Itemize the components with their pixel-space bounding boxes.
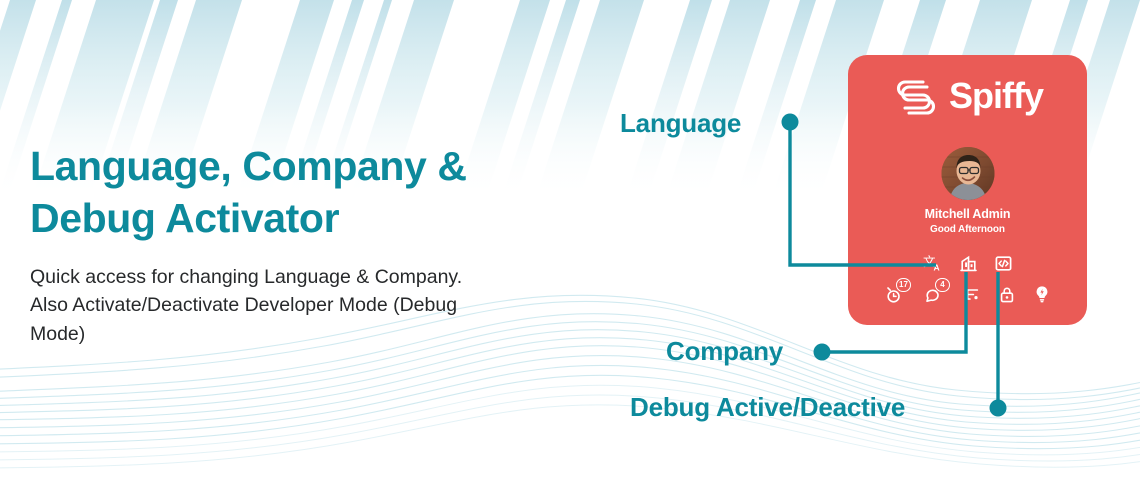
brand-name: Spiffy [949,78,1043,114]
translate-language-icon[interactable]: 文 A [923,254,942,272]
lightbulb-tips-icon[interactable] [1034,285,1050,303]
page-title-line-1: Language, Company & [30,140,590,192]
messages-chat-badge: 4 [935,278,950,292]
quick-action-row-primary: 文 A [848,254,1087,272]
filter-settings-icon[interactable] [963,286,980,303]
brand-lockup: Spiffy [848,75,1087,117]
debug-code-icon[interactable] [995,255,1012,272]
activity-timer-badge: 17 [896,278,911,292]
company-building-icon[interactable] [960,255,977,272]
page-description: Quick access for changing Language & Com… [30,263,500,348]
callout-label-company: Company [666,336,783,367]
user-name: Mitchell Admin [848,207,1087,221]
greeting-text: Good Afternoon [848,224,1087,235]
connector-dot-language [782,114,799,131]
user-profile-card: Spiffy [848,55,1087,325]
activity-timer-icon[interactable]: 17 [885,284,905,304]
promo-banner: Language, Company & Debug Activator Quic… [0,0,1140,500]
callout-label-language: Language [620,108,741,139]
lock-icon[interactable] [999,286,1015,303]
messages-chat-icon[interactable]: 4 [924,284,944,304]
connector-dot-company [814,344,831,361]
callout-label-debug: Debug Active/Deactive [630,392,905,423]
spiffy-paperclip-s-logo [892,75,940,117]
page-title: Language, Company & Debug Activator [30,140,590,245]
connector-dot-debug [990,400,1007,417]
quick-action-row-secondary: 17 4 [848,284,1087,304]
page-title-line-2: Debug Activator [30,192,590,244]
svg-text:A: A [934,263,940,273]
avatar[interactable] [941,147,994,200]
user-avatar-photo [941,147,994,200]
